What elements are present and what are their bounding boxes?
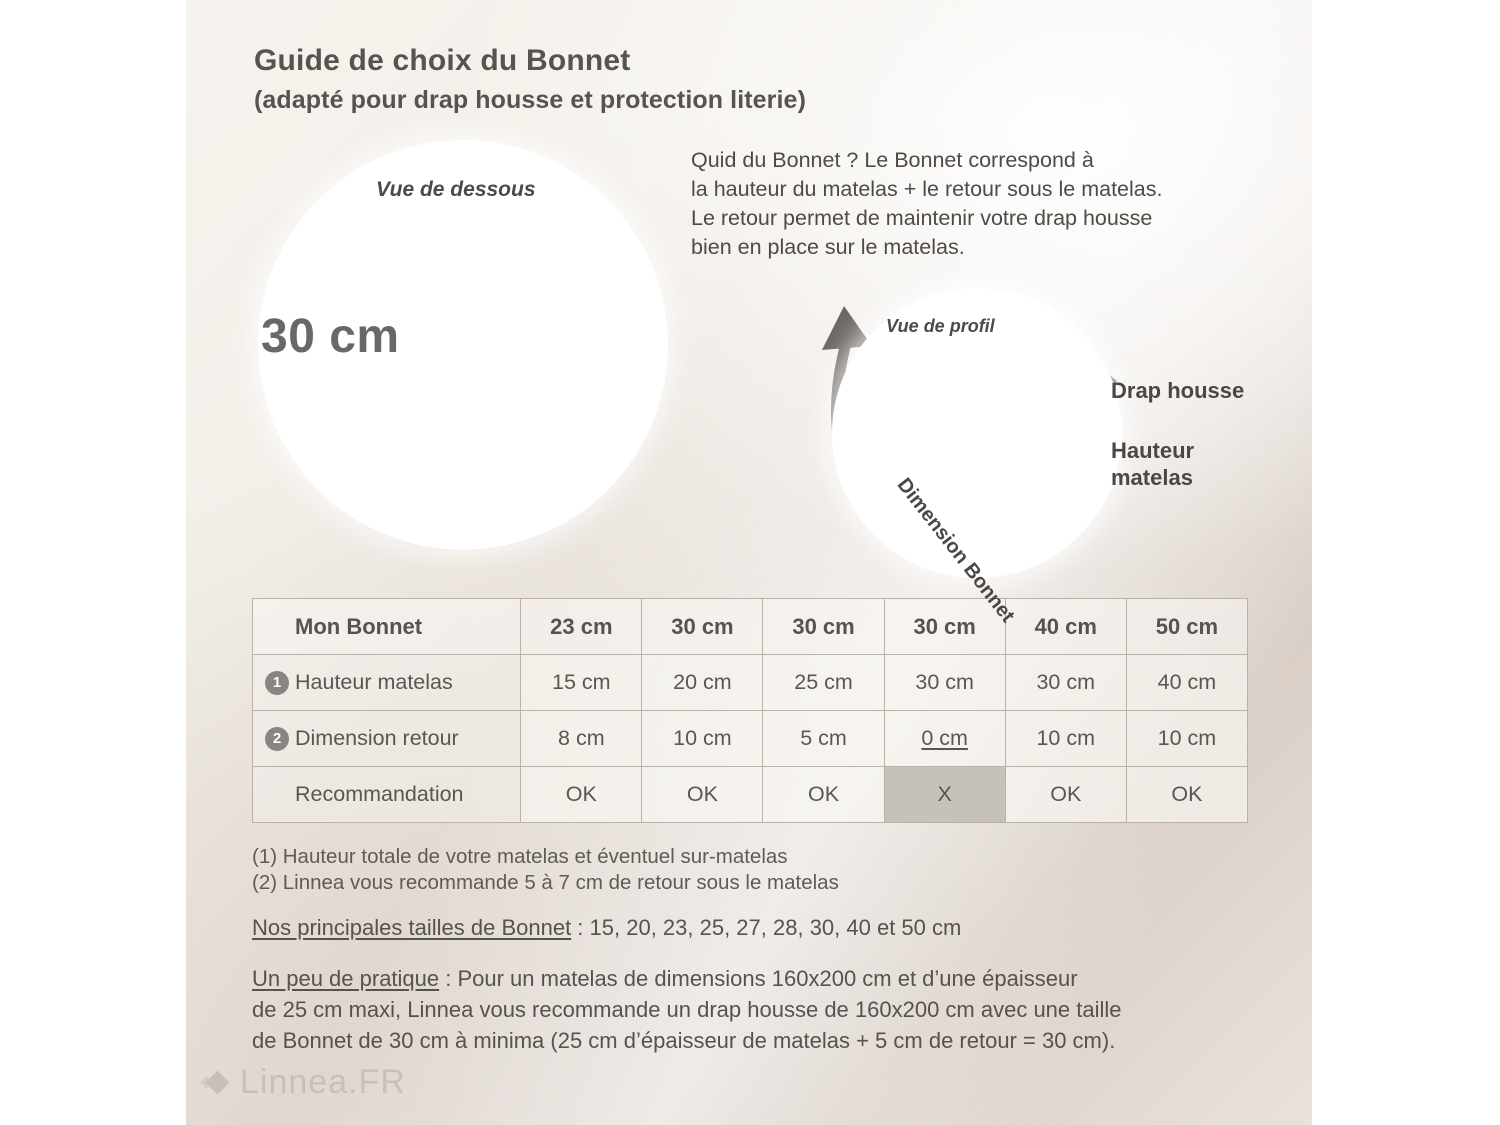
- table-header-row: Mon Bonnet 23 cm 30 cm 30 cm 30 cm 40 cm…: [253, 599, 1248, 655]
- cell-retour-4: 0 cm: [884, 711, 1005, 767]
- intro-line-3: Le retour permet de maintenir votre drap…: [691, 204, 1271, 233]
- intro-paragraph: Quid du Bonnet ? Le Bonnet correspond à …: [691, 146, 1271, 262]
- table-row: 2 Dimension retour 8 cm 10 cm 5 cm 0 cm …: [253, 711, 1248, 767]
- hauteur-matelas-line-1: Hauteur: [1111, 437, 1194, 464]
- practice-paragraph: Un peu de pratique : Pour un matelas de …: [252, 963, 1122, 1056]
- logo-text: Linnea.FR: [240, 1063, 406, 1102]
- row-label-text: Hauteur matelas: [295, 670, 453, 694]
- table-header-col-2: 30 cm: [642, 599, 763, 655]
- bonnet-table: Mon Bonnet 23 cm 30 cm 30 cm 30 cm 40 cm…: [252, 598, 1248, 823]
- profile-view-label: Vue de profil: [886, 316, 995, 337]
- infographic-root: Guide de choix du Bonnet (adapté pour dr…: [0, 0, 1500, 1125]
- sizes-value: : 15, 20, 23, 25, 27, 28, 30, 40 et 50 c…: [571, 915, 961, 940]
- table-row: 1 Hauteur matelas 15 cm 20 cm 25 cm 30 c…: [253, 655, 1248, 711]
- intro-line-1: Quid du Bonnet ? Le Bonnet correspond à: [691, 146, 1271, 175]
- cell-retour-3: 5 cm: [763, 711, 884, 767]
- page-subtitle: (adapté pour drap housse et protection l…: [254, 86, 806, 115]
- table-header-col-6: 50 cm: [1126, 599, 1247, 655]
- cell-reco-6: OK: [1126, 767, 1247, 823]
- badge-1-icon: 1: [265, 671, 289, 695]
- sizes-line: Nos principales tailles de Bonnet : 15, …: [252, 915, 961, 941]
- cell-retour-4-text: 0 cm: [921, 726, 968, 750]
- practice-line-3: de Bonnet de 30 cm à minima (25 cm d’épa…: [252, 1025, 1122, 1056]
- cell-hauteur-6: 40 cm: [1126, 655, 1247, 711]
- practice-label: Un peu de pratique: [252, 966, 439, 991]
- content-panel: Guide de choix du Bonnet (adapté pour dr…: [186, 0, 1312, 1125]
- cell-retour-2: 10 cm: [642, 711, 763, 767]
- intro-line-2: la hauteur du matelas + le retour sous l…: [691, 175, 1271, 204]
- badge-2-icon: 2: [265, 727, 289, 751]
- practice-line-1-text: : Pour un matelas de dimensions 160x200 …: [439, 966, 1077, 991]
- bonnet-measure-label: 30 cm: [261, 309, 400, 364]
- intro-line-4: bien en place sur le matelas.: [691, 233, 1271, 262]
- cell-hauteur-4: 30 cm: [884, 655, 1005, 711]
- page-title: Guide de choix du Bonnet: [254, 44, 630, 78]
- footnote-1: (1) Hauteur totale de votre matelas et é…: [252, 845, 788, 869]
- logo[interactable]: Linnea.FR: [202, 1063, 406, 1102]
- hauteur-matelas-line-2: matelas: [1111, 464, 1194, 491]
- table-header-col-3: 30 cm: [763, 599, 884, 655]
- cell-reco-4: X: [884, 767, 1005, 823]
- drap-housse-label: Drap housse: [1111, 377, 1244, 404]
- cell-retour-6: 10 cm: [1126, 711, 1247, 767]
- row-label-text: Dimension retour: [295, 726, 459, 750]
- cell-reco-3: OK: [763, 767, 884, 823]
- bottom-view-label: Vue de dessous: [376, 178, 536, 202]
- row-label-hauteur-matelas: 1 Hauteur matelas: [253, 655, 521, 711]
- sizes-label: Nos principales tailles de Bonnet: [252, 915, 571, 940]
- table-header-col-5: 40 cm: [1005, 599, 1126, 655]
- hauteur-matelas-label: Hauteur matelas: [1111, 437, 1194, 491]
- cell-reco-5: OK: [1005, 767, 1126, 823]
- cell-hauteur-5: 30 cm: [1005, 655, 1126, 711]
- cell-hauteur-1: 15 cm: [521, 655, 642, 711]
- cell-retour-1: 8 cm: [521, 711, 642, 767]
- table-header-title: Mon Bonnet: [253, 599, 521, 655]
- cell-reco-2: OK: [642, 767, 763, 823]
- linnea-diamond-icon: [202, 1070, 228, 1096]
- table-row: Recommandation OK OK OK X OK OK: [253, 767, 1248, 823]
- table-header-col-1: 23 cm: [521, 599, 642, 655]
- footnote-2: (2) Linnea vous recommande 5 à 7 cm de r…: [252, 871, 839, 895]
- cell-hauteur-3: 25 cm: [763, 655, 884, 711]
- cell-hauteur-2: 20 cm: [642, 655, 763, 711]
- cell-reco-1: OK: [521, 767, 642, 823]
- practice-line-2: de 25 cm maxi, Linnea vous recommande un…: [252, 994, 1122, 1025]
- row-label-dimension-retour: 2 Dimension retour: [253, 711, 521, 767]
- practice-line-1: Un peu de pratique : Pour un matelas de …: [252, 963, 1122, 994]
- cell-retour-5: 10 cm: [1005, 711, 1126, 767]
- row-label-recommandation: Recommandation: [253, 767, 521, 823]
